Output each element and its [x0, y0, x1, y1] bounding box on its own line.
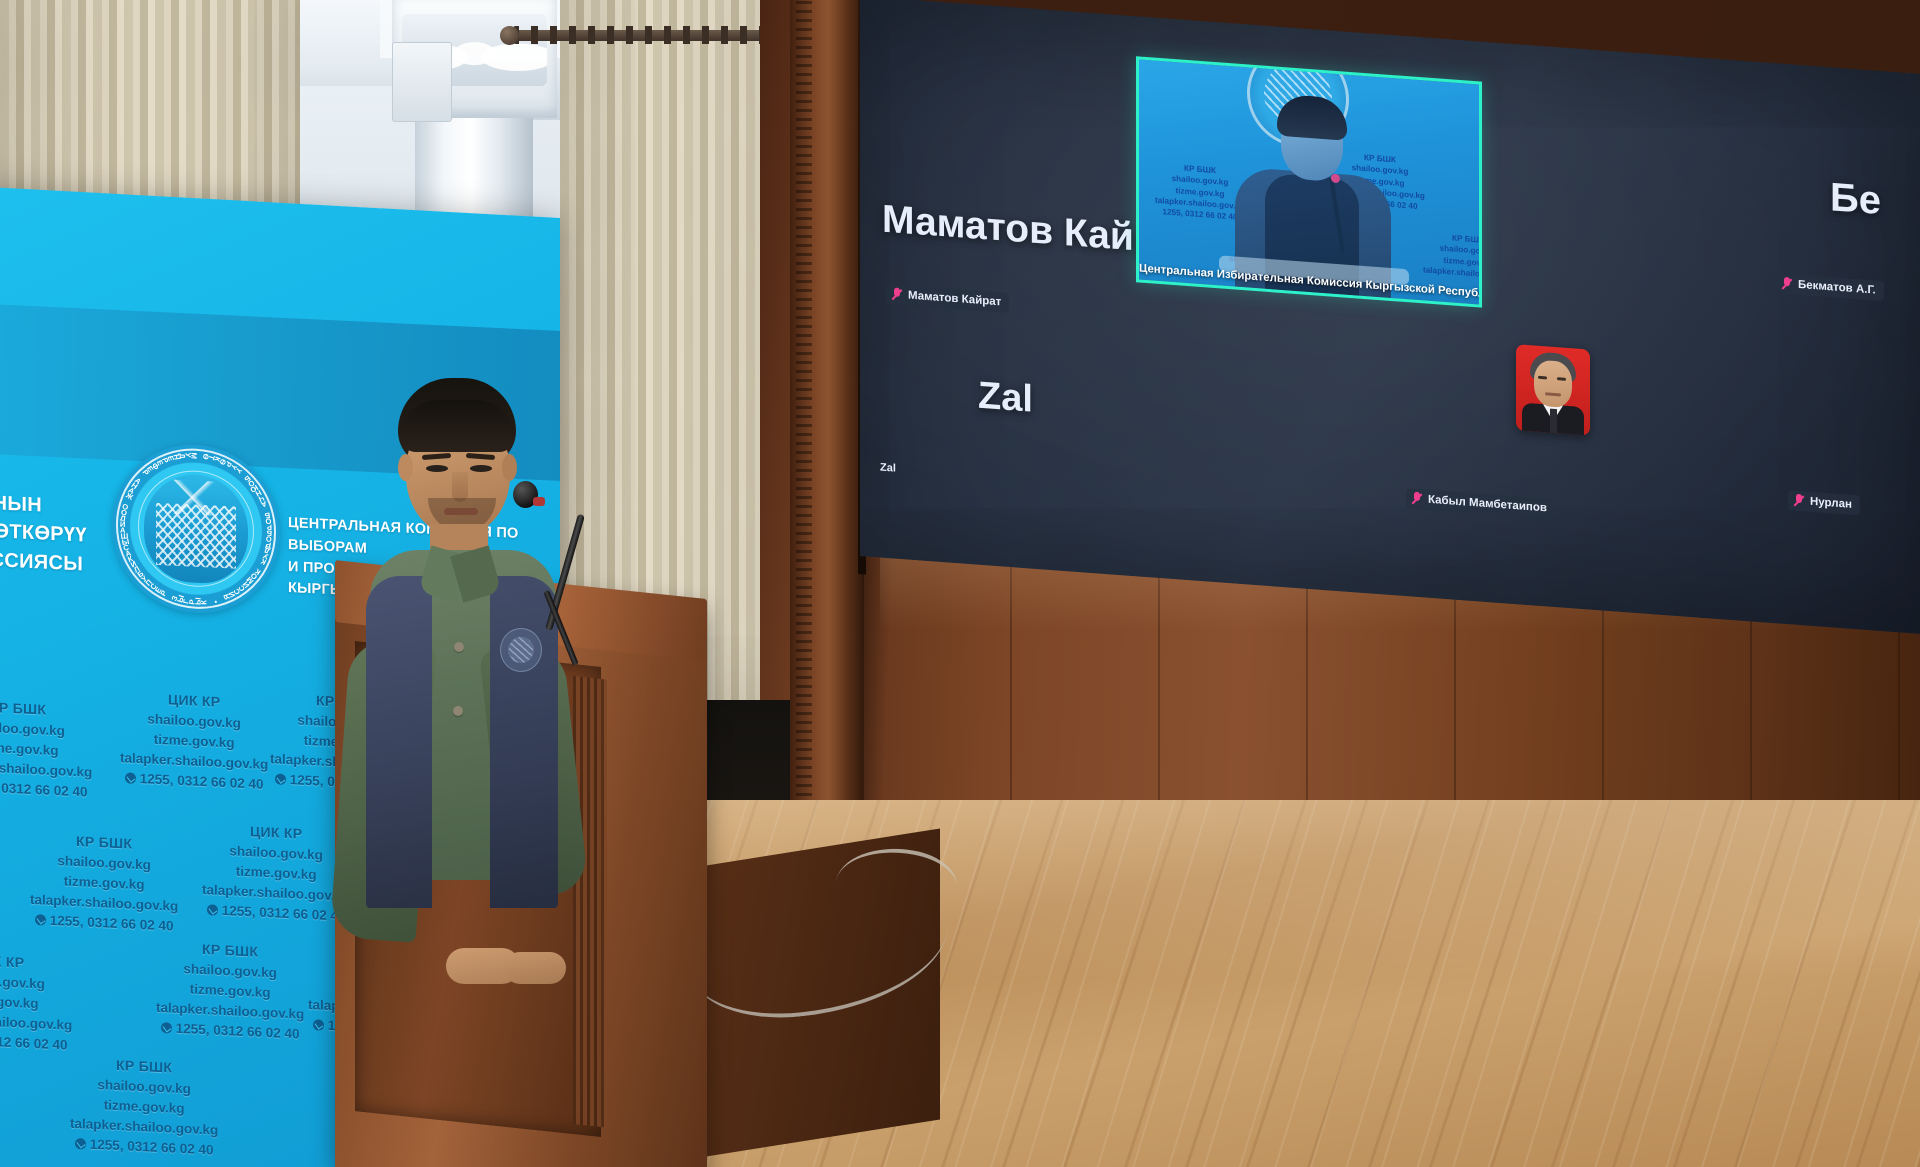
- emblem-ring-char: О: [121, 502, 130, 513]
- speaker-ear-right: [502, 454, 517, 481]
- curtain-rod-finial-left: [500, 26, 519, 45]
- speaker-vest-left-panel: [366, 576, 432, 908]
- emblem-ring-char: Я: [221, 593, 231, 601]
- speaker-eye-left: [426, 465, 448, 472]
- speaker-vest-emblem: [500, 628, 542, 672]
- speaker-shirt-button-lower: [453, 706, 463, 716]
- participant-tag-mamatov-label: Маматов Кайрат: [908, 290, 1001, 309]
- banner-contact-block: ЦИК КРshailoo.gov.kgtizme.gov.kgtalapker…: [120, 687, 268, 795]
- emblem-ring-char: Ы: [121, 537, 130, 547]
- tile-contact-block-4: КР БШК shailoo.gov.kg tizme.gov.kg talap…: [1423, 230, 1482, 282]
- banner-title-kyrgyz-line-1: СЫНЫН: [0, 487, 88, 522]
- participant-avatar-photo[interactable]: [1516, 344, 1590, 435]
- banner-title-kyrgyz-line-3: МИССИЯСЫ: [0, 544, 88, 579]
- participant-tag-zal[interactable]: Zal: [876, 459, 900, 477]
- banner-title-kyrgyz-line-2: УМ ӨТКӨРҮҮ: [0, 516, 88, 551]
- participant-tag-nurlan-label: Нурлан: [1810, 496, 1852, 511]
- banner-contact-block: КР БШКshailoo.gov.kgtizme.gov.kgtalapker…: [156, 937, 304, 1045]
- emblem-ring-char: М: [189, 452, 198, 459]
- microphone-off-icon: [1411, 491, 1422, 506]
- avatar-face: [1534, 359, 1572, 408]
- microphone-off-icon: [891, 287, 902, 302]
- banner-contact-block: ЦИК КРshailoo.gov.kgtizme.gov.kgtalapker…: [0, 948, 72, 1056]
- phone-icon: [125, 772, 136, 784]
- emblem-ring-char: К: [259, 557, 267, 567]
- tile-participant-microphone-tip: [1331, 174, 1340, 184]
- speaker-shirt-button-upper: [454, 642, 464, 652]
- video-conference-screen[interactable]: Маматов Кайрат Zal Бе КР БШК shailoo.gov…: [860, 0, 1920, 634]
- speaker-mouth: [444, 508, 478, 515]
- phone-icon: [313, 1019, 324, 1031]
- stage-name-bekmatov-clipped: Бе: [1830, 175, 1881, 224]
- emblem-ring-char: Ү: [234, 466, 244, 475]
- participant-tag-bekmatov-label: Бекматов А.Г.: [1798, 279, 1876, 297]
- speaker-person: [318, 378, 588, 978]
- banner-contact-block: КР БШКshailoo.gov.kgtizme.gov.kgtalapker…: [0, 695, 92, 803]
- phone-icon: [207, 904, 218, 916]
- speaker-hairline: [401, 400, 514, 452]
- avatar-eye-left: [1538, 376, 1547, 380]
- stage-name-zal: Zal: [978, 375, 1033, 422]
- banner-contact-label: ЦИК КР: [0, 948, 72, 976]
- cec-emblem: ШАЙЛОО ЖАНА РЕФЕРЕНДУМ ӨТКӨРҮҮ БОЮНЧА БО…: [112, 441, 280, 617]
- speaker-eye-right: [470, 465, 492, 472]
- emblem-ring-char: А: [260, 499, 268, 509]
- phone-icon: [161, 1022, 172, 1034]
- microphone-off-icon: [1781, 277, 1792, 292]
- participant-tag-zal-label: Zal: [880, 461, 896, 474]
- emblem-ring-text: ШАЙЛОО ЖАНА РЕФЕРЕНДУМ ӨТКӨРҮҮ БОЮНЧА БО…: [112, 441, 280, 617]
- phone-icon: [75, 1138, 86, 1150]
- banner-title-kyrgyz: СЫНЫН УМ ӨТКӨРҮҮ МИССИЯСЫ: [0, 487, 88, 578]
- tile-contact-block-1: КР БШК shailoo.gov.kg tizme.gov.kg talap…: [1155, 161, 1245, 224]
- speaker-hands: [318, 756, 588, 816]
- banner-contact-block: КР БШКshailoo.gov.kgtizme.gov.kgtalapker…: [70, 1053, 218, 1161]
- microphone-off-icon: [1793, 494, 1804, 509]
- microphone-indicator-ring: [533, 497, 545, 506]
- phone-icon: [35, 914, 46, 926]
- curtain-rings: [512, 26, 792, 44]
- screenshot-scene: СЫНЫН УМ ӨТКӨРҮҮ МИССИЯСЫ ЦЕНТРАЛЬНАЯ КО…: [0, 0, 1920, 1167]
- banner-contact-block: КР БШКshailoo.gov.kgtizme.gov.kgtalapker…: [30, 829, 178, 937]
- avatar-eye-right: [1557, 377, 1566, 381]
- avatar-tie: [1550, 409, 1557, 436]
- active-speaker-video-tile[interactable]: КР БШК shailoo.gov.kg tizme.gov.kg talap…: [1136, 56, 1482, 307]
- emblem-ring-char: •: [211, 600, 220, 604]
- speaker-ear-left: [398, 454, 413, 481]
- speaker-hand-right: [504, 952, 566, 984]
- phone-icon: [275, 773, 286, 785]
- wall-vent: [392, 42, 452, 122]
